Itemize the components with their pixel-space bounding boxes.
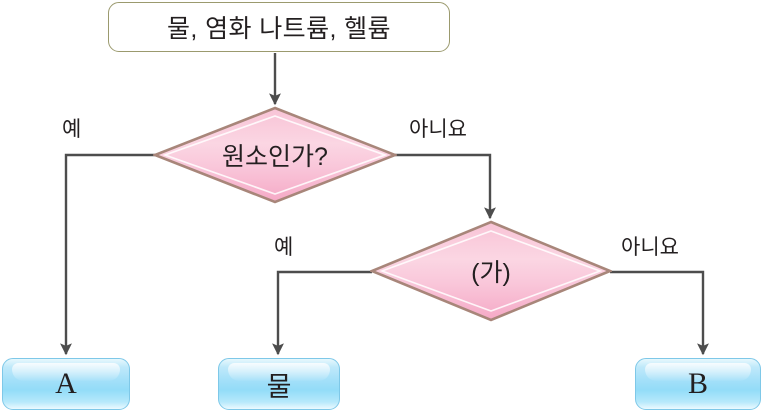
- connector-layer: [0, 0, 765, 413]
- edge-label-decision2-yes: 예: [274, 231, 293, 261]
- flowchart-diagram: 물, 염화 나트륨, 헬륨 원소인가?: [0, 0, 765, 413]
- edge-decision1-yes-to-a: [66, 155, 155, 354]
- terminal-a-label: A: [55, 367, 77, 401]
- terminal-node-b: B: [635, 358, 761, 410]
- terminal-b-label: B: [688, 367, 708, 401]
- decision-node-ga: (가): [370, 220, 612, 322]
- edge-label-decision2-no: 아니요: [621, 231, 679, 261]
- edge-decision1-no-to-decision2: [395, 155, 490, 218]
- edge-label-decision1-yes: 예: [62, 113, 81, 143]
- start-node: 물, 염화 나트륨, 헬륨: [108, 2, 450, 52]
- decision-node-element: 원소인가?: [153, 106, 397, 204]
- terminal-water-label: 물: [267, 365, 292, 404]
- decision1-label: 원소인가?: [153, 106, 397, 204]
- edge-decision2-yes-to-water: [278, 272, 372, 354]
- edge-decision2-no-to-b: [610, 272, 703, 354]
- terminal-node-water: 물: [218, 358, 340, 410]
- edge-label-decision1-no: 아니요: [409, 113, 467, 143]
- start-node-label: 물, 염화 나트륨, 헬륨: [167, 9, 391, 45]
- decision2-label: (가): [370, 220, 612, 322]
- terminal-node-a: A: [2, 358, 130, 410]
